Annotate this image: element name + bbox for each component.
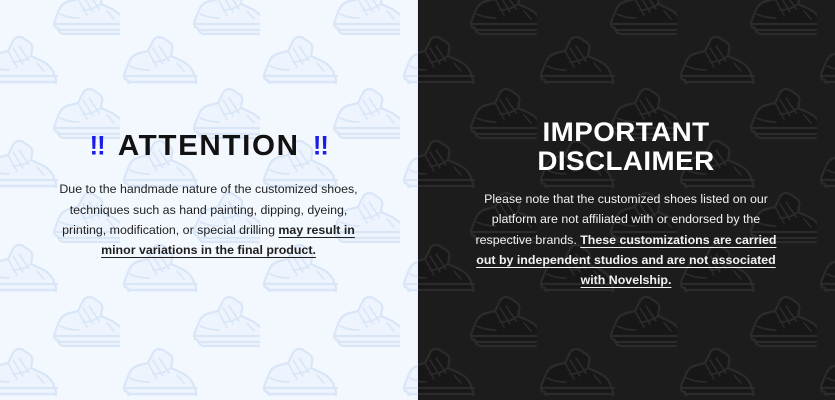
attention-heading: !! ATTENTION !! [89, 131, 327, 161]
customization-disclaimer-banner: !! ATTENTION !! Due to the handmade natu… [0, 0, 835, 400]
disclaimer-content: IMPORTANT DISCLAIMER Please note that th… [417, 0, 835, 290]
exclamation-left-icon: !! [89, 132, 104, 160]
disclaimer-heading-line2: DISCLAIMER [537, 147, 714, 176]
panel-divider [417, 0, 418, 400]
disclaimer-heading: IMPORTANT DISCLAIMER [537, 118, 714, 176]
attention-heading-text: ATTENTION [118, 131, 300, 161]
attention-body: Due to the handmade nature of the custom… [56, 179, 361, 259]
attention-content: !! ATTENTION !! Due to the handmade natu… [0, 0, 417, 260]
attention-panel: !! ATTENTION !! Due to the handmade natu… [0, 0, 417, 400]
disclaimer-panel: IMPORTANT DISCLAIMER Please note that th… [417, 0, 835, 400]
disclaimer-heading-line1: IMPORTANT [537, 118, 714, 147]
disclaimer-body: Please note that the customized shoes li… [467, 189, 785, 289]
exclamation-right-icon: !! [313, 132, 328, 160]
